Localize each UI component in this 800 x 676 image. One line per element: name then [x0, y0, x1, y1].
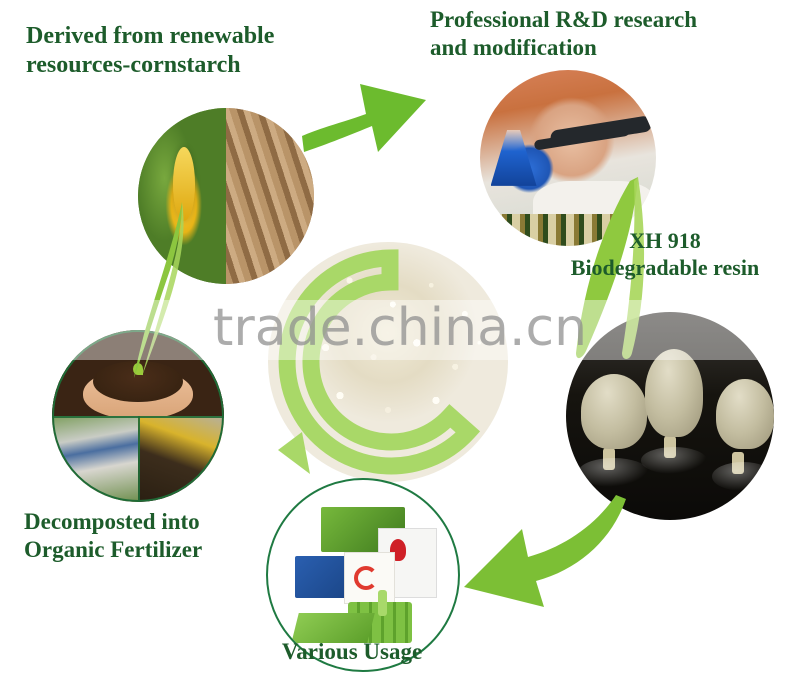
label-various-usage: Various Usage	[252, 638, 452, 666]
label-xh918-resin: XH 918 Biodegradable resin	[540, 228, 790, 282]
compost-mark-icon	[354, 566, 378, 590]
label-organic-fertilizer: Decomposted into Organic Fertilizer	[24, 508, 304, 564]
green-tube	[378, 590, 387, 616]
granule-pile	[716, 379, 774, 450]
label-rd-research: Professional R&D research and modificati…	[430, 6, 760, 62]
glass-base	[712, 462, 774, 491]
granule-pile	[581, 374, 648, 449]
goggles-icon	[550, 115, 653, 147]
arrow-center-cycle	[262, 236, 518, 488]
glass-base	[641, 447, 708, 474]
diagram-canvas: trade.china.cn Derived from renewable re…	[0, 0, 800, 676]
arrow-resin-to-usage	[430, 495, 630, 630]
glass-base	[578, 458, 649, 487]
flask-icon	[491, 130, 537, 186]
label-renewable-resources: Derived from renewable resources-cornsta…	[26, 22, 356, 81]
watermark-text: trade.china.cn	[0, 302, 800, 354]
